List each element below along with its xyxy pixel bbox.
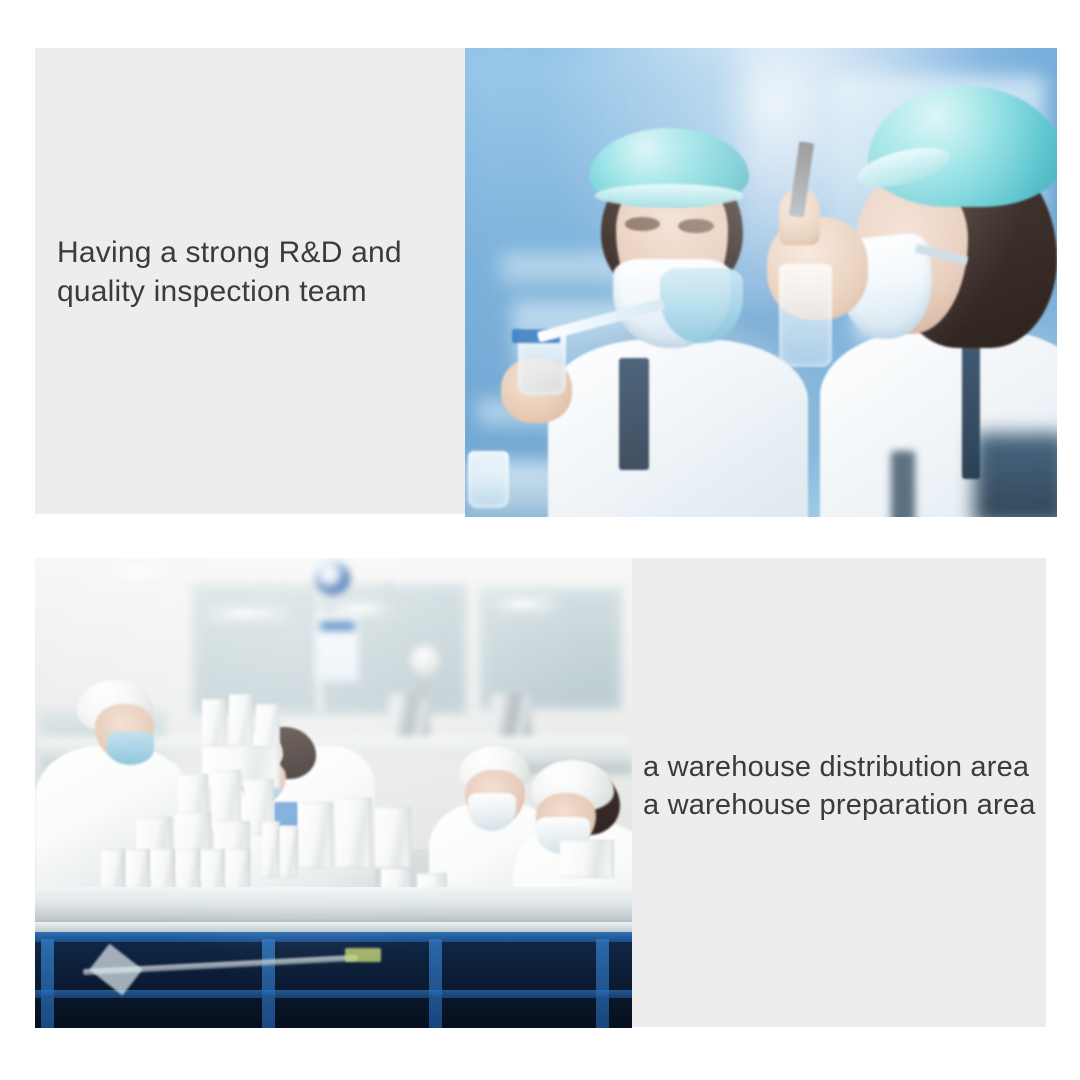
- warehouse-scene: [35, 558, 632, 1028]
- caption-line-2: a warehouse preparation area: [643, 786, 1063, 824]
- lab-highlight-overlay: [465, 48, 1057, 517]
- caption-warehouse: a warehouse distribution area a warehous…: [643, 748, 1063, 825]
- caption-line-1: a warehouse distribution area: [643, 748, 1063, 786]
- photo-warehouse-packing: [35, 558, 632, 1028]
- lab-scene: [465, 48, 1057, 517]
- caption-line-2: quality inspection team: [57, 272, 457, 311]
- banner-page: Having a strong R&D and quality inspecti…: [0, 0, 1080, 1080]
- warehouse-highlight-overlay: [35, 558, 632, 1028]
- photo-lab-inspection: [465, 48, 1057, 517]
- caption-rnd-quality: Having a strong R&D and quality inspecti…: [57, 233, 457, 311]
- caption-line-1: Having a strong R&D and: [57, 233, 457, 272]
- section-rnd-quality: Having a strong R&D and quality inspecti…: [35, 48, 1057, 517]
- section-warehouse: a warehouse distribution area a warehous…: [35, 558, 1046, 1028]
